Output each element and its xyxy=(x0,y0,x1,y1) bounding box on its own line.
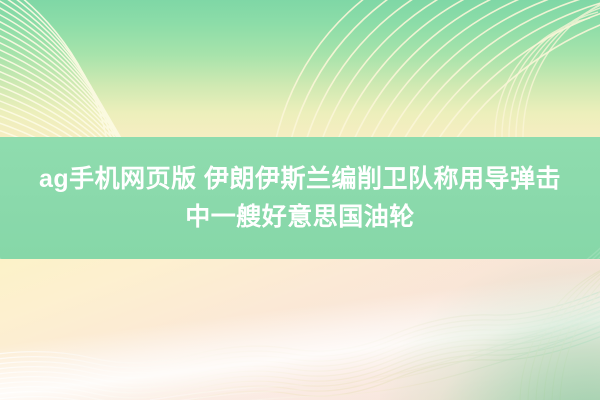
top-left-arcs-icon xyxy=(0,0,330,137)
headline-line-1: ag手机网页版 伊朗伊斯兰编削卫队称用导弹击 xyxy=(39,160,561,198)
banner-image: ag手机网页版 伊朗伊斯兰编削卫队称用导弹击 中一艘好意思国油轮 xyxy=(0,0,600,400)
headline-band: ag手机网页版 伊朗伊斯兰编削卫队称用导弹击 中一艘好意思国油轮 xyxy=(0,137,600,259)
top-right-arcs-icon xyxy=(240,0,600,137)
bottom-wave-lines-icon xyxy=(0,259,600,400)
headline-line-2: 中一艘好意思国油轮 xyxy=(185,198,415,236)
bottom-light-sweep xyxy=(0,259,600,400)
bottom-decor-band xyxy=(0,259,600,400)
headline-text: ag手机网页版 伊朗伊斯兰编削卫队称用导弹击 中一艘好意思国油轮 xyxy=(0,137,600,259)
top-decor-band xyxy=(0,0,600,137)
bottom-right-green-glow-icon xyxy=(380,260,600,400)
